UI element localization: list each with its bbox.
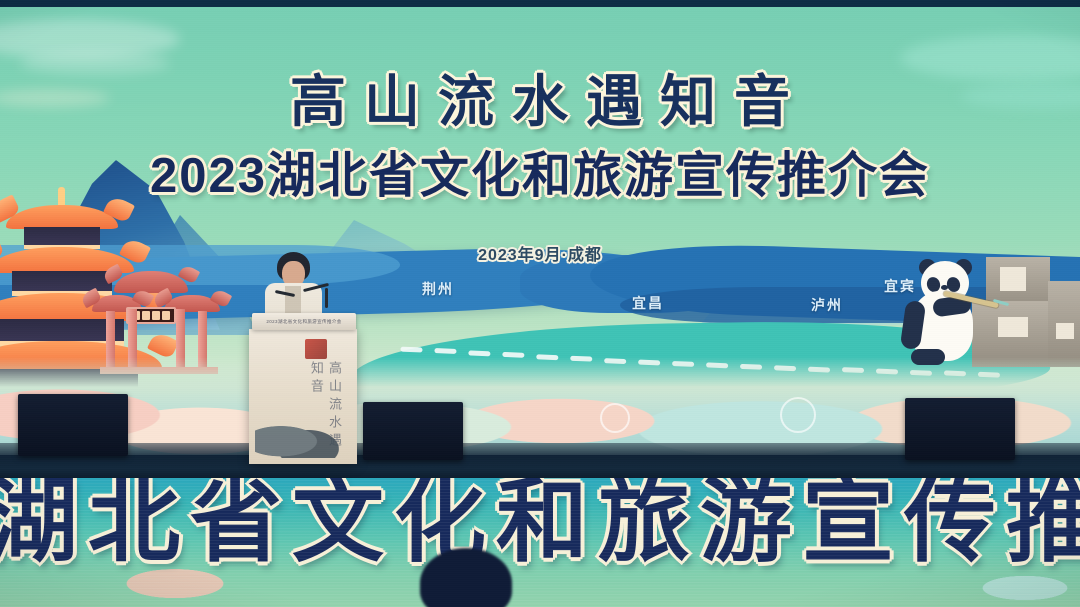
paifang-roof-center (114, 271, 188, 293)
microphone-stem (325, 288, 328, 308)
route-dash (434, 348, 456, 354)
architecture-window (1056, 323, 1074, 339)
led-wall-bezel (0, 0, 1080, 7)
stage-monitor (363, 402, 463, 460)
city-label-宜昌: 宜昌 (632, 293, 664, 313)
event-date-location: 2023年9月·成都 (0, 241, 1080, 265)
panda-nose (941, 285, 948, 290)
stage-monitor (18, 394, 128, 456)
event-subtitle: 2023湖北省文化和旅游宣传推介会 (0, 136, 1080, 207)
ink-painting-motif (255, 416, 341, 458)
panda-leg (911, 349, 945, 365)
cloud-swirl (600, 403, 630, 433)
plaque-glyph (152, 311, 160, 320)
city-label-荆州: 荆州 (422, 279, 454, 299)
pagoda-roof-1 (6, 205, 118, 229)
architecture-window (1000, 267, 1026, 291)
route-dash (468, 350, 490, 356)
led-screen-backdrop: 荆州宜昌泸州宜宾 (0, 5, 1080, 460)
architecture-window (998, 317, 1028, 337)
route-dash (400, 347, 422, 353)
podium: 高山流水遇知音 (249, 329, 357, 464)
lower-led-banner: 湖北省文化和旅游宣传推介 (0, 478, 1080, 607)
stage-monitor (905, 398, 1015, 460)
led-scanline-overlay (0, 478, 1080, 607)
event-stage-photograph: 荆州宜昌泸州宜宾 (0, 0, 1080, 607)
cloud-swirl (780, 397, 816, 433)
plaque-glyph (142, 311, 150, 320)
city-label-泸州: 泸州 (811, 295, 843, 315)
podium-name-plate: 2023湖北省文化和旅游宣传推介会 (252, 313, 356, 330)
event-main-title: 高山流水遇知音 (0, 57, 1080, 138)
plaque-glyph (162, 311, 170, 320)
panda-flute-illustration (905, 257, 991, 367)
red-seal-icon (305, 339, 327, 359)
podium-plate-text: 2023湖北省文化和旅游宣传推介会 (266, 319, 341, 325)
